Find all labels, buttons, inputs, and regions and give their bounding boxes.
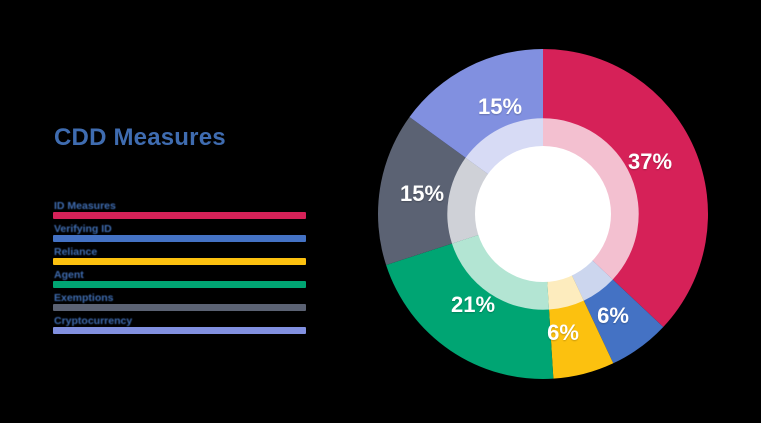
legend-item: Verifying ID [53, 224, 306, 247]
legend-item-label: Cryptocurrency [54, 316, 132, 327]
legend-item: Cryptocurrency [53, 316, 306, 339]
slide-canvas: CDD Measures ID MeasuresVerifying IDReli… [0, 0, 761, 423]
legend-color-bar [53, 212, 306, 219]
chart-legend: ID MeasuresVerifying IDRelianceAgentExem… [53, 201, 306, 339]
legend-item-label: Reliance [54, 247, 97, 258]
legend-color-bar [53, 235, 306, 242]
legend-item: Reliance [53, 247, 306, 270]
slice-value-label: 15% [478, 94, 522, 120]
legend-item-label: ID Measures [54, 201, 116, 212]
donut-chart: 37%6%6%21%15%15% [378, 28, 708, 398]
legend-color-bar [53, 281, 306, 288]
legend-item-label: Verifying ID [54, 224, 112, 235]
left-panel: CDD Measures ID MeasuresVerifying IDReli… [0, 0, 360, 423]
legend-item: ID Measures [53, 201, 306, 224]
legend-item: Agent [53, 270, 306, 293]
legend-item: Exemptions [53, 293, 306, 316]
slice-value-label: 37% [628, 149, 672, 175]
legend-item-label: Exemptions [54, 293, 114, 304]
slice-value-label: 6% [547, 320, 579, 346]
legend-color-bar [53, 304, 306, 311]
slice-value-label: 6% [597, 303, 629, 329]
slice-value-label: 21% [451, 292, 495, 318]
donut-hole [475, 146, 611, 282]
page-title: CDD Measures [54, 124, 226, 152]
donut-chart-svg [378, 28, 708, 398]
legend-color-bar [53, 258, 306, 265]
legend-color-bar [53, 327, 306, 334]
slice-value-label: 15% [400, 181, 444, 207]
legend-item-label: Agent [54, 270, 84, 281]
